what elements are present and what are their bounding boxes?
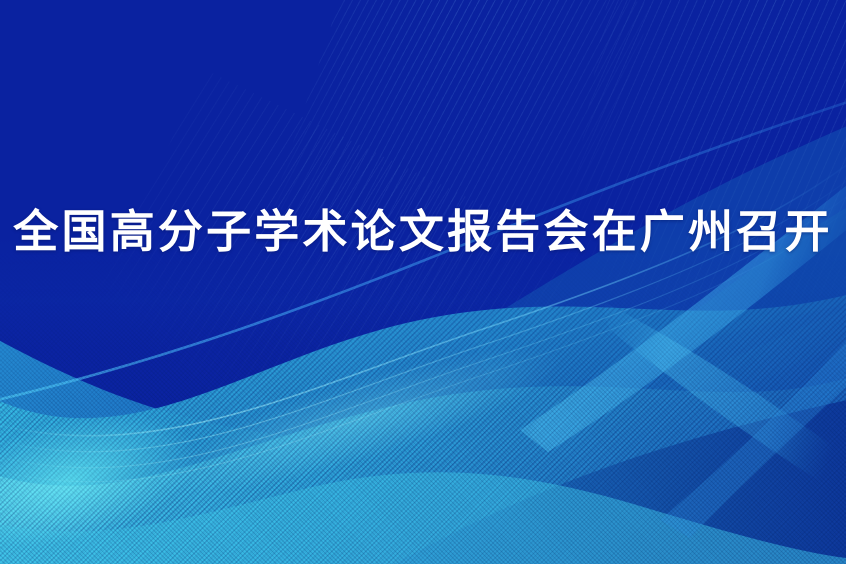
wave-graphic: [0, 0, 846, 564]
banner-title: 全国高分子学术论文报告会在广州召开: [13, 210, 832, 255]
banner-poster: 全国高分子学术论文报告会在广州召开: [0, 0, 846, 564]
title-container: 全国高分子学术论文报告会在广州召开: [0, 196, 846, 268]
